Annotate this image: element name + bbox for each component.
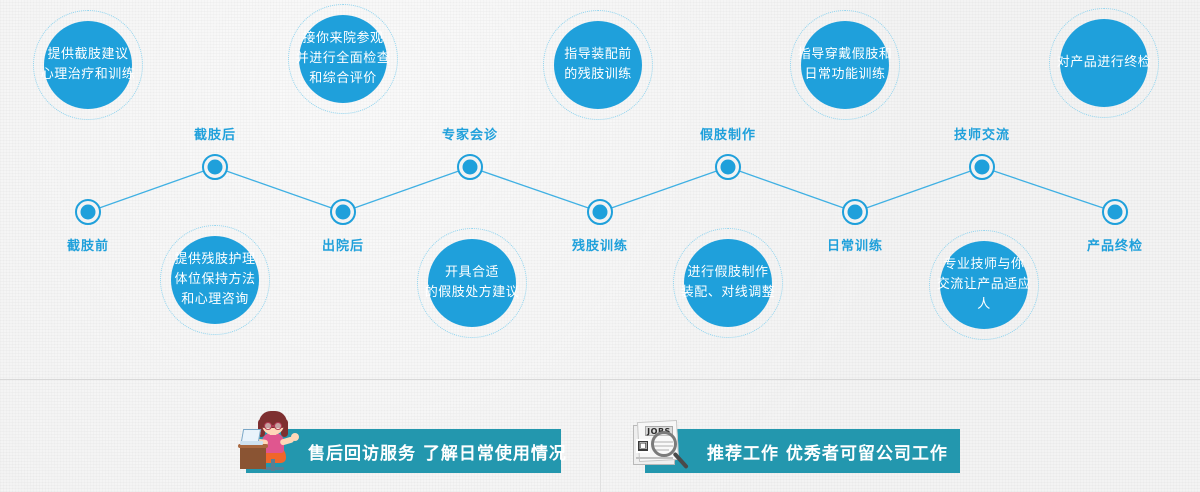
section-divider-vertical — [600, 380, 601, 492]
node-dot — [721, 160, 736, 175]
banner-aftersales[interactable]: 售后回访服务 了解日常使用情况 — [246, 429, 561, 473]
node-dot — [208, 160, 223, 175]
detail-bubble-step-5: 指导装配前 的残肢训练 — [543, 10, 653, 120]
bubble-text: 提供残肢护理 体位保持方法 和心理咨询 — [168, 250, 261, 310]
banner-title: 售后回访服务 了解日常使用情况 — [308, 439, 567, 464]
flow-node-label-step-7: 日常训练 — [827, 235, 883, 254]
node-dot — [336, 205, 351, 220]
flow-node-label-step-2: 截肢后 — [194, 124, 236, 143]
magnifier-lens-icon — [651, 431, 677, 457]
flow-node-label-step-9: 产品终检 — [1087, 235, 1143, 254]
flow-node-step-3[interactable] — [330, 199, 356, 225]
woman-hand — [291, 433, 299, 441]
flow-node-label-step-6: 假肢制作 — [700, 124, 756, 143]
bubble-text: 对产品进行终检 — [1051, 53, 1158, 73]
flow-node-step-2[interactable] — [202, 154, 228, 180]
bubble-text: 提供截肢建议 心理治疗和训练 — [35, 45, 142, 85]
detail-bubble-step-6: 进行假肢制作 装配、对线调整 — [673, 228, 783, 338]
detail-bubble-step-9: 对产品进行终检 — [1049, 8, 1159, 118]
detail-bubble-step-3: 接你来院参观 并进行全面检查 和综合评价 — [288, 4, 398, 114]
laptop-keyboard — [240, 441, 263, 445]
detail-bubble-step-1: 提供截肢建议 心理治疗和训练 — [33, 10, 143, 120]
bubble-text: 专业技师与你 交流让产品适应人 — [929, 255, 1039, 315]
woman-at-desk-icon — [240, 409, 304, 473]
flow-node-label-step-1: 截肢前 — [67, 235, 109, 254]
flow-node-step-1[interactable] — [75, 199, 101, 225]
bubble-text: 开具合适 的假肢处方建议 — [419, 263, 526, 303]
detail-bubble-step-7: 指导穿戴假肢和 日常功能训练 — [790, 10, 900, 120]
node-dot — [463, 160, 478, 175]
flow-node-label-step-8: 技师交流 — [954, 124, 1010, 143]
flow-node-label-step-3: 出院后 — [322, 235, 364, 254]
detail-bubble-step-2: 提供残肢护理 体位保持方法 和心理咨询 — [160, 225, 270, 335]
desk-body — [240, 447, 266, 469]
flow-node-step-5[interactable] — [587, 199, 613, 225]
bubble-text: 指导穿戴假肢和 日常功能训练 — [792, 45, 899, 85]
eyeglass-bridge — [272, 425, 275, 427]
bubble-text: 指导装配前 的残肢训练 — [558, 45, 638, 85]
bubble-text: 进行假肢制作 装配、对线调整 — [675, 263, 782, 303]
node-dot — [1108, 205, 1123, 220]
eyeglass-left-lens-icon — [264, 422, 272, 430]
banner-title: 推荐工作 优秀者可留公司工作 — [707, 439, 948, 464]
jobs-newspaper-magnifier-icon: JOBS ▣ — [627, 415, 691, 479]
node-dot — [975, 160, 990, 175]
flow-node-label-step-5: 残肢训练 — [572, 235, 628, 254]
detail-bubble-step-8: 专业技师与你 交流让产品适应人 — [929, 230, 1039, 340]
prosthetics-service-flow-infographic: 提供截肢建议 心理治疗和训练 接你来院参观 并进行全面检查 和综合评价 指导装配… — [0, 0, 1200, 492]
eyeglass-right-lens-icon — [274, 422, 282, 430]
newspaper-photo: ▣ — [636, 439, 650, 453]
node-dot — [81, 205, 96, 220]
banner-jobs[interactable]: JOBS ▣ 推荐工作 优秀者可留公司工作 — [645, 429, 960, 473]
flow-node-step-8[interactable] — [969, 154, 995, 180]
flow-node-step-7[interactable] — [842, 199, 868, 225]
flow-node-step-6[interactable] — [715, 154, 741, 180]
node-dot — [848, 205, 863, 220]
node-dot — [593, 205, 608, 220]
newspaper-text-line — [636, 457, 673, 459]
flow-node-label-step-4: 专家会诊 — [442, 124, 498, 143]
bubble-text: 接你来院参观 并进行全面检查 和综合评价 — [290, 29, 397, 89]
detail-bubble-step-4: 开具合适 的假肢处方建议 — [417, 228, 527, 338]
flow-node-step-4[interactable] — [457, 154, 483, 180]
flow-node-step-9[interactable] — [1102, 199, 1128, 225]
